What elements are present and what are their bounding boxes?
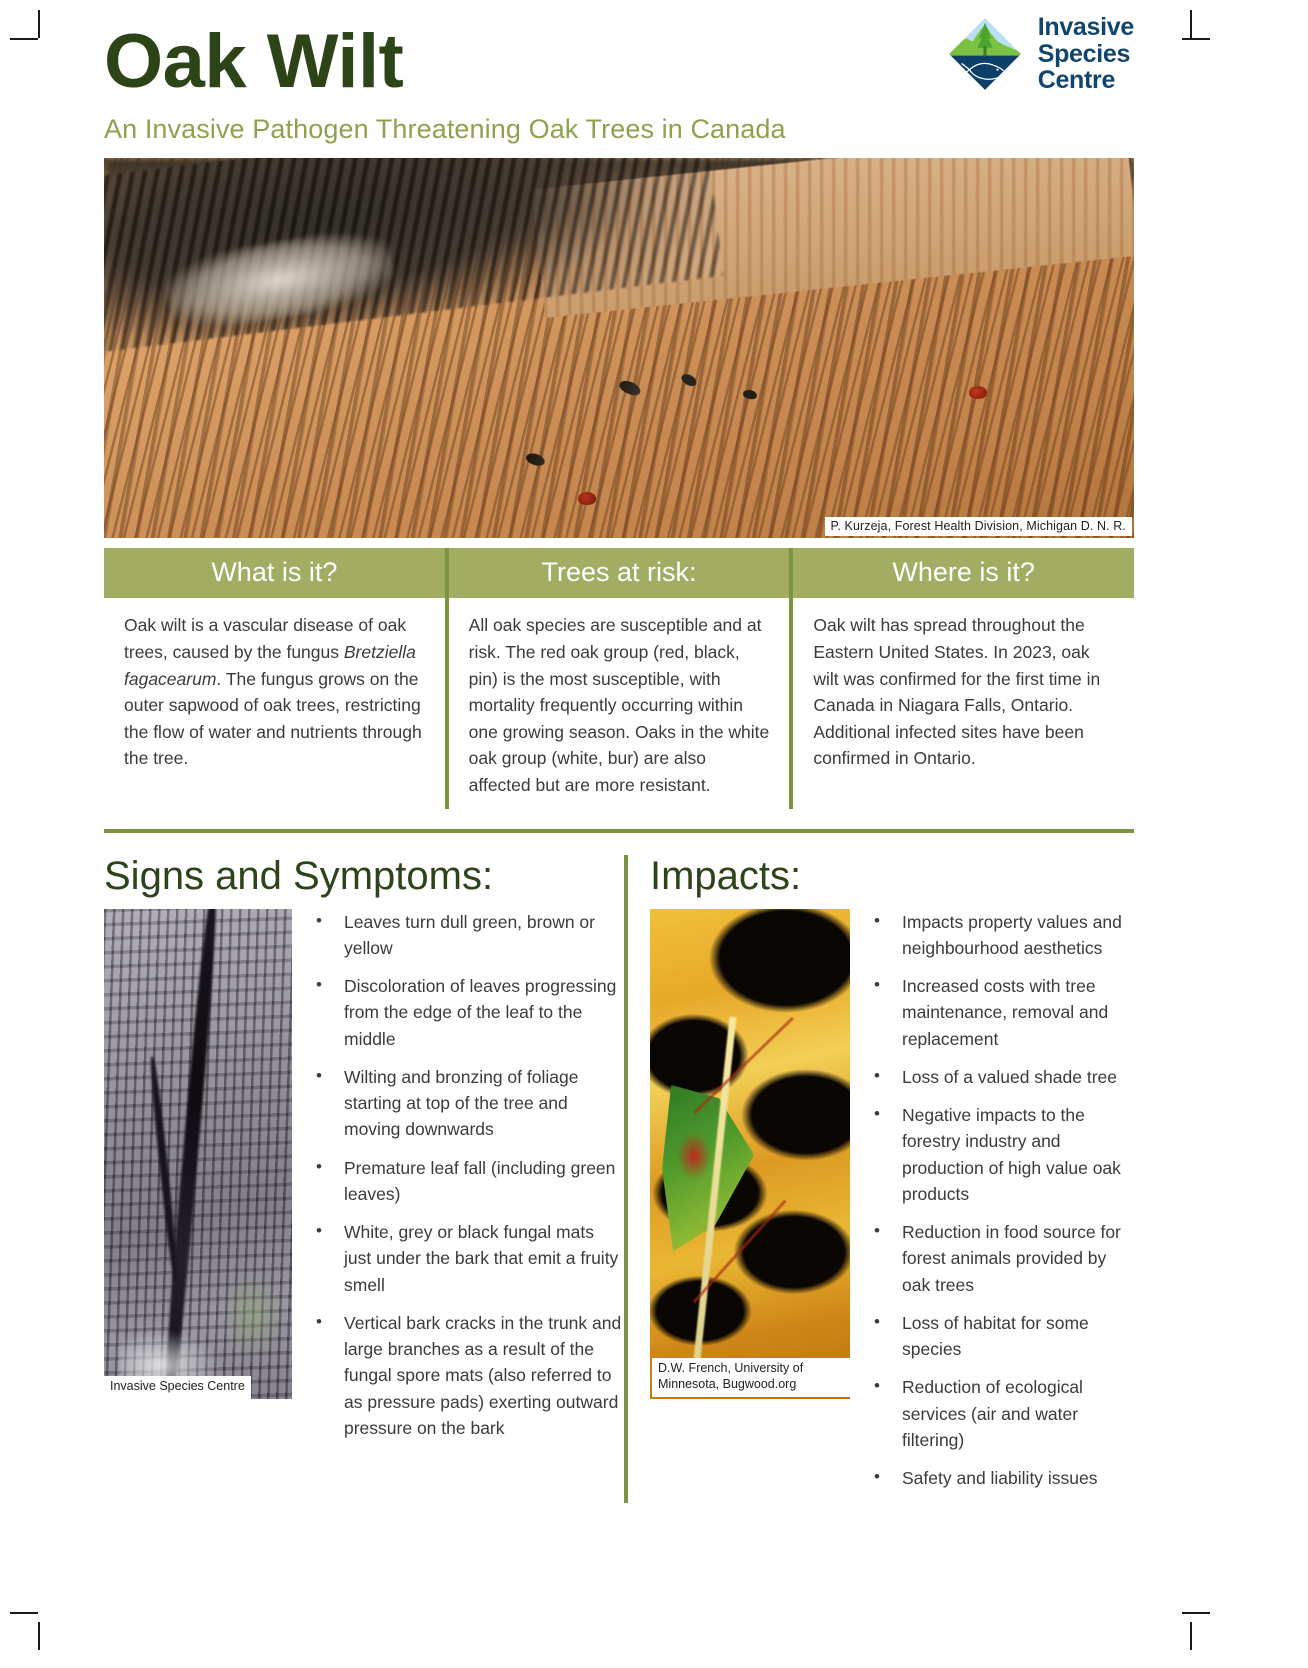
fact-columns: What is it? Oak wilt is a vascular disea… xyxy=(104,548,1134,809)
list-item: Loss of habitat for some species xyxy=(868,1310,1134,1363)
ladybeetle-1 xyxy=(969,386,987,399)
list-item: Premature leaf fall (including green lea… xyxy=(310,1155,624,1208)
fact-heading-where-is-it: Where is it? xyxy=(793,548,1134,598)
crop-mark-top-right-v xyxy=(1190,10,1192,38)
hero-photo-fungal-mat: P. Kurzeja, Forest Health Division, Mich… xyxy=(104,158,1134,538)
page-subtitle: An Invasive Pathogen Threatening Oak Tre… xyxy=(104,100,1134,145)
fact-heading-what-is-it: What is it? xyxy=(104,548,445,598)
list-item: Impacts property values and neighbourhoo… xyxy=(868,909,1134,962)
impacts-heading: Impacts: xyxy=(650,855,1134,897)
hero-photo-credit: P. Kurzeja, Forest Health Division, Mich… xyxy=(825,517,1132,537)
fact-body-what-is-it: Oak wilt is a vascular disease of oak tr… xyxy=(104,598,445,782)
logo-line-2: Species xyxy=(1038,41,1134,68)
list-item: Leaves turn dull green, brown or yellow xyxy=(310,909,624,962)
fact-sheet-page: Oak Wilt An Invasive Pathogen Threatenin… xyxy=(104,0,1134,1668)
fact-column-trees-at-risk: Trees at risk: All oak species are susce… xyxy=(445,548,790,809)
section-divider-rule xyxy=(104,829,1134,833)
fact-body-trees-at-risk: All oak species are susceptible and at r… xyxy=(449,598,790,808)
bark-moss-patch xyxy=(221,1271,285,1359)
page-header: Oak Wilt An Invasive Pathogen Threatenin… xyxy=(104,0,1134,150)
signs-and-symptoms-panel: Signs and Symptoms: Invasive Species Cen… xyxy=(104,855,624,1504)
crop-mark-top-left-v xyxy=(38,10,40,38)
list-item: Discoloration of leaves progressing from… xyxy=(310,973,624,1052)
crop-mark-top-right-h xyxy=(1182,38,1210,40)
crop-mark-bottom-right-h xyxy=(1182,1612,1210,1614)
fact-body-where-is-it: Oak wilt has spread throughout the Easte… xyxy=(793,598,1134,782)
ladybeetle-2 xyxy=(578,492,596,505)
signs-heading: Signs and Symptoms: xyxy=(104,855,624,897)
list-item: Reduction of ecological services (air an… xyxy=(868,1374,1134,1453)
list-item: Negative impacts to the forestry industr… xyxy=(868,1102,1134,1207)
list-item: Loss of a valued shade tree xyxy=(868,1064,1134,1090)
signs-bullet-list: Leaves turn dull green, brown or yellow … xyxy=(310,909,624,1454)
bark-photo-credit: Invasive Species Centre xyxy=(104,1376,251,1399)
logo-wordmark: Invasive Species Centre xyxy=(1038,14,1134,94)
fact-column-where-is-it: Where is it? Oak wilt has spread through… xyxy=(789,548,1134,809)
logo-line-3: Centre xyxy=(1038,67,1134,94)
fact-column-what-is-it: What is it? Oak wilt is a vascular disea… xyxy=(104,548,445,809)
crop-mark-bottom-right-v xyxy=(1190,1622,1192,1650)
organization-logo: Invasive Species Centre xyxy=(946,14,1134,94)
impacts-panel: Impacts: D.W. French, University of Minn… xyxy=(624,855,1134,1504)
crop-mark-bottom-left-v xyxy=(38,1622,40,1650)
impacts-content-row: D.W. French, University of Minnesota, Bu… xyxy=(650,909,1134,1504)
list-item: White, grey or black fungal mats just un… xyxy=(310,1219,624,1298)
crop-mark-bottom-left-h xyxy=(10,1612,38,1614)
list-item: Increased costs with tree maintenance, r… xyxy=(868,973,1134,1052)
signs-content-row: Invasive Species Centre Leaves turn dull… xyxy=(104,909,624,1454)
crop-mark-top-left-h xyxy=(10,38,38,40)
invasive-species-centre-diamond-icon xyxy=(946,15,1024,93)
lower-panels: Signs and Symptoms: Invasive Species Cen… xyxy=(104,855,1134,1504)
leaf-red-spot xyxy=(678,1134,710,1178)
list-item: Wilting and bronzing of foliage starting… xyxy=(310,1064,624,1143)
leaf-photo-credit: D.W. French, University of Minnesota, Bu… xyxy=(652,1358,850,1396)
list-item: Reduction in food source for forest anim… xyxy=(868,1219,1134,1298)
list-item: Vertical bark cracks in the trunk and la… xyxy=(310,1310,624,1441)
oak-leaf-photo: D.W. French, University of Minnesota, Bu… xyxy=(650,909,850,1399)
fact-heading-trees-at-risk: Trees at risk: xyxy=(449,548,790,598)
bark-crack-photo: Invasive Species Centre xyxy=(104,909,292,1399)
list-item: Safety and liability issues xyxy=(868,1465,1134,1491)
impacts-bullet-list: Impacts property values and neighbourhoo… xyxy=(868,909,1134,1504)
logo-line-1: Invasive xyxy=(1038,14,1134,41)
